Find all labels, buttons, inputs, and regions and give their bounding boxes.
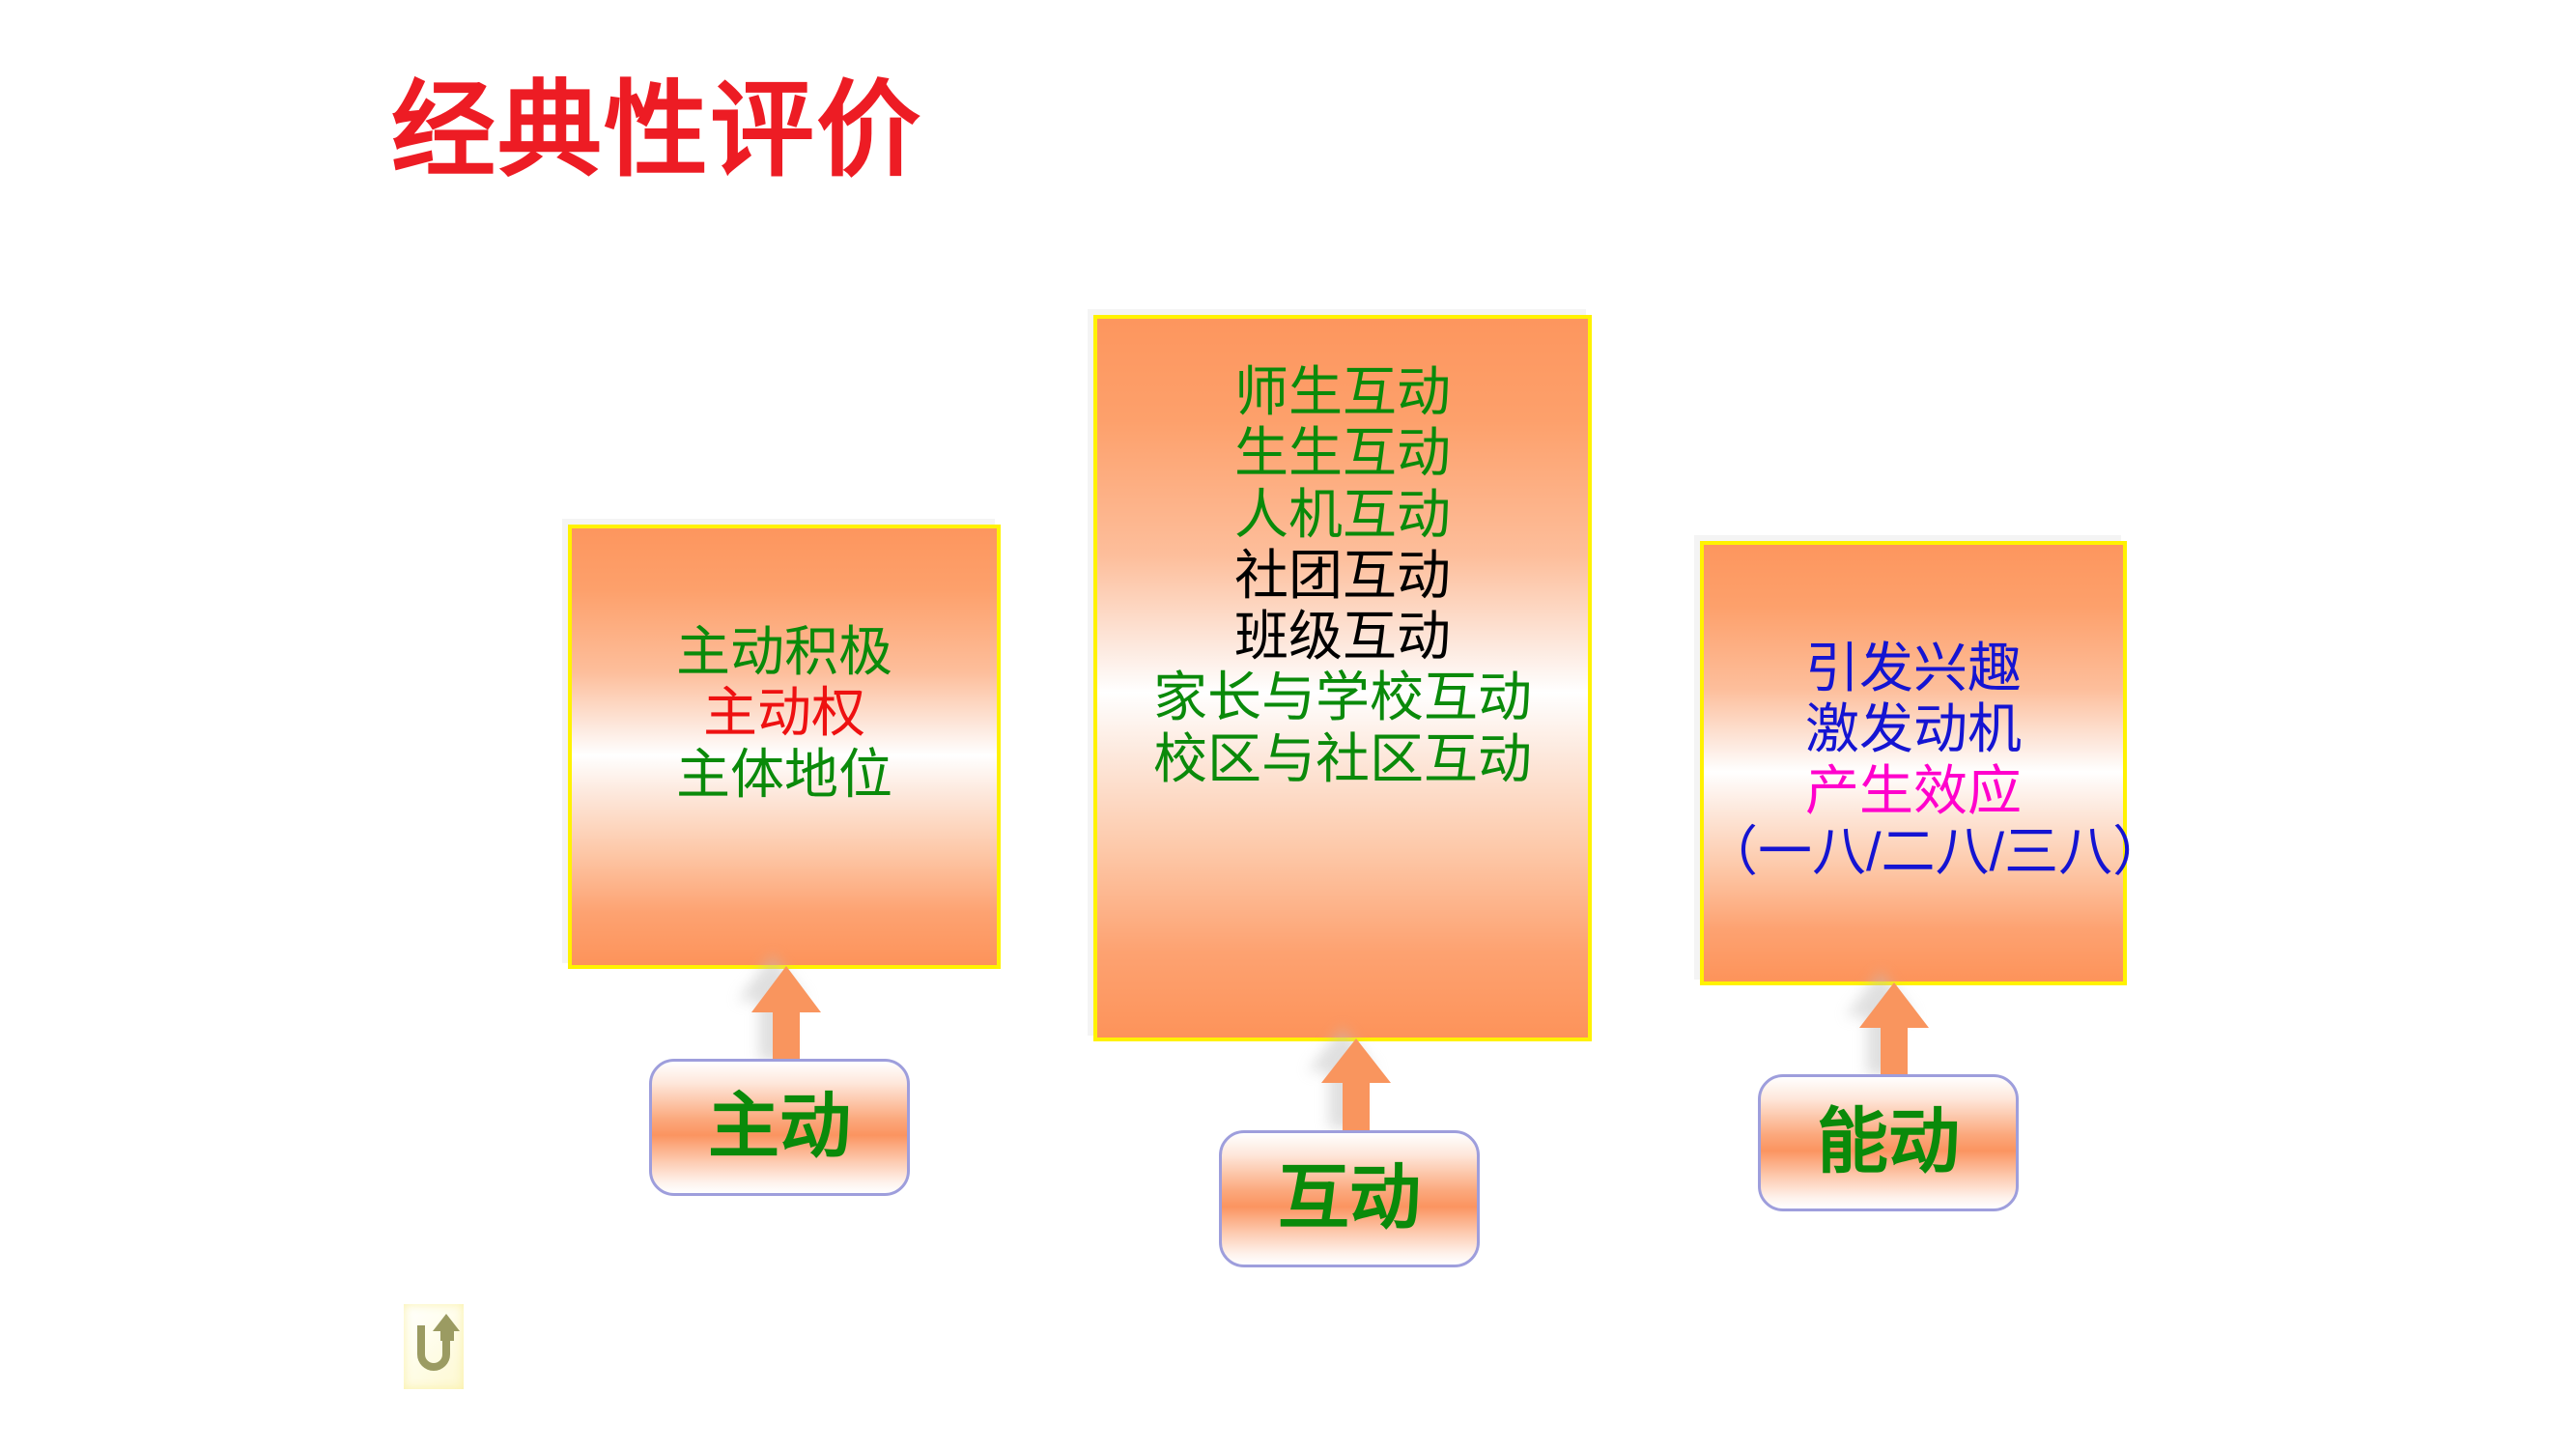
panel-active-line-2: 主动权 <box>572 682 997 743</box>
panel-interaction-line-6: 家长与学校互动 <box>1097 667 1588 727</box>
arrow-up-icon <box>1859 982 1929 1087</box>
slide-canvas: 经典性评价 主动积极 主动权 主体地位 师生互动 生生互动 人机互动 社团互动 … <box>0 0 2576 1450</box>
chip-zhudong[interactable]: 主动 <box>649 1059 910 1196</box>
return-uturn-icon[interactable] <box>404 1304 464 1389</box>
chip-hudong[interactable]: 互动 <box>1219 1130 1480 1267</box>
arrow-up-to-active <box>751 966 821 1072</box>
panel-interaction: 师生互动 生生互动 人机互动 社团互动 班级互动 家长与学校互动 校区与社区互动 <box>1093 315 1592 1041</box>
panel-initiative-line-3: 产生效应 <box>1704 760 2123 821</box>
arrow-up-to-interaction <box>1321 1038 1391 1140</box>
panel-interaction-line-5: 班级互动 <box>1097 606 1588 667</box>
arrow-up-icon <box>1321 1038 1391 1140</box>
panel-initiative-line-1: 引发兴趣 <box>1704 638 2123 698</box>
panel-interaction-line-2: 生生互动 <box>1097 422 1588 483</box>
panel-initiative-lines: 引发兴趣 激发动机 产生效应 （一八/二八/三八） <box>1704 638 2123 882</box>
panel-active-lines: 主动积极 主动权 主体地位 <box>572 621 997 805</box>
panel-initiative: 引发兴趣 激发动机 产生效应 （一八/二八/三八） <box>1700 541 2127 985</box>
panel-active: 主动积极 主动权 主体地位 <box>568 525 1001 969</box>
chip-zhudong-label: 主动 <box>708 1092 851 1163</box>
chip-hudong-label: 互动 <box>1278 1163 1421 1235</box>
arrow-up-icon <box>751 966 821 1072</box>
arrow-up-to-initiative <box>1859 982 1929 1087</box>
panel-active-line-3: 主体地位 <box>572 744 997 805</box>
chip-nengdong[interactable]: 能动 <box>1758 1074 2019 1211</box>
panel-initiative-line-4: （一八/二八/三八） <box>1704 821 2123 882</box>
page-title: 经典性评价 <box>391 75 922 190</box>
panel-active-line-1: 主动积极 <box>572 621 997 682</box>
panel-initiative-line-2: 激发动机 <box>1704 698 2123 759</box>
chip-nengdong-label: 能动 <box>1817 1107 1960 1179</box>
panel-interaction-lines: 师生互动 生生互动 人机互动 社团互动 班级互动 家长与学校互动 校区与社区互动 <box>1097 361 1588 789</box>
panel-interaction-line-4: 社团互动 <box>1097 545 1588 606</box>
uturn-arrow-glyph <box>404 1304 464 1389</box>
panel-interaction-line-1: 师生互动 <box>1097 361 1588 422</box>
panel-interaction-line-3: 人机互动 <box>1097 484 1588 545</box>
panel-interaction-line-7: 校区与社区互动 <box>1097 728 1588 789</box>
